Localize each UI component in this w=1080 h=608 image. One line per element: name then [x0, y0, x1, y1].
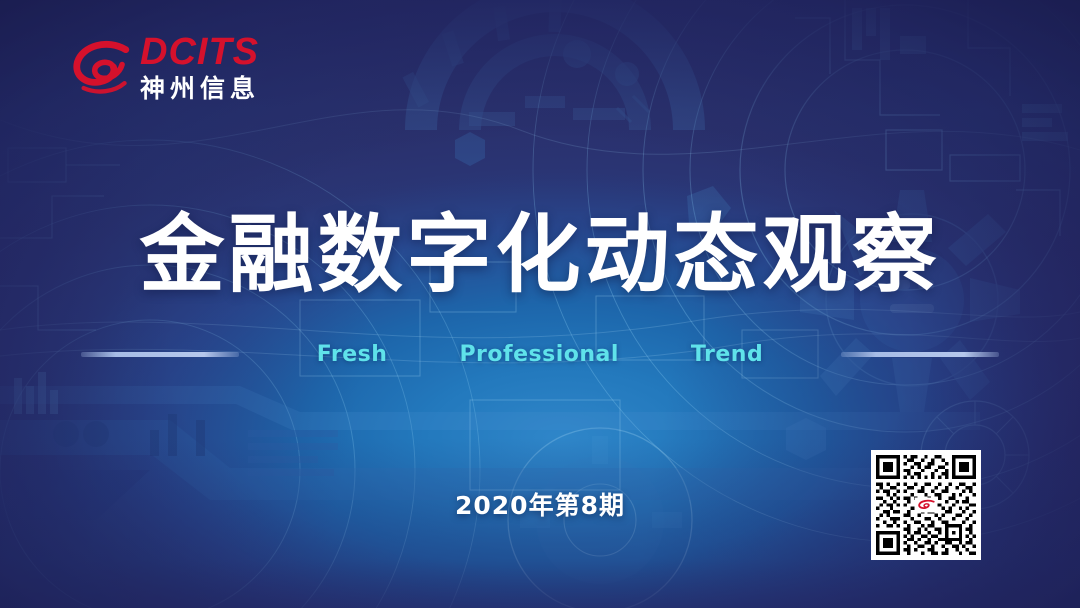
tagline-trend: Trend — [691, 342, 763, 367]
poster-title: 金融数字化动态观察 — [0, 186, 1080, 309]
qr-code-canvas — [876, 455, 976, 555]
poster-canvas: DCITS 神州信息 金融数字化动态观察 Fresh Professional … — [0, 0, 1080, 608]
logo-brand-cn: 神州信息 — [140, 76, 260, 101]
qr-code[interactable] — [871, 450, 981, 560]
tagline-professional: Professional — [459, 342, 618, 367]
qr-center-swirl-icon — [917, 500, 936, 511]
dcits-swirl-icon — [70, 36, 132, 98]
logo-brand-en: DCITS — [140, 33, 260, 71]
dcits-logo: DCITS 神州信息 — [70, 33, 260, 101]
qr-center-logo — [915, 498, 938, 513]
tagline-divider-left — [81, 352, 239, 357]
tagline-divider-right — [841, 352, 999, 357]
tagline-fresh: Fresh — [317, 342, 388, 367]
tagline-row: Fresh Professional Trend — [0, 336, 1080, 372]
